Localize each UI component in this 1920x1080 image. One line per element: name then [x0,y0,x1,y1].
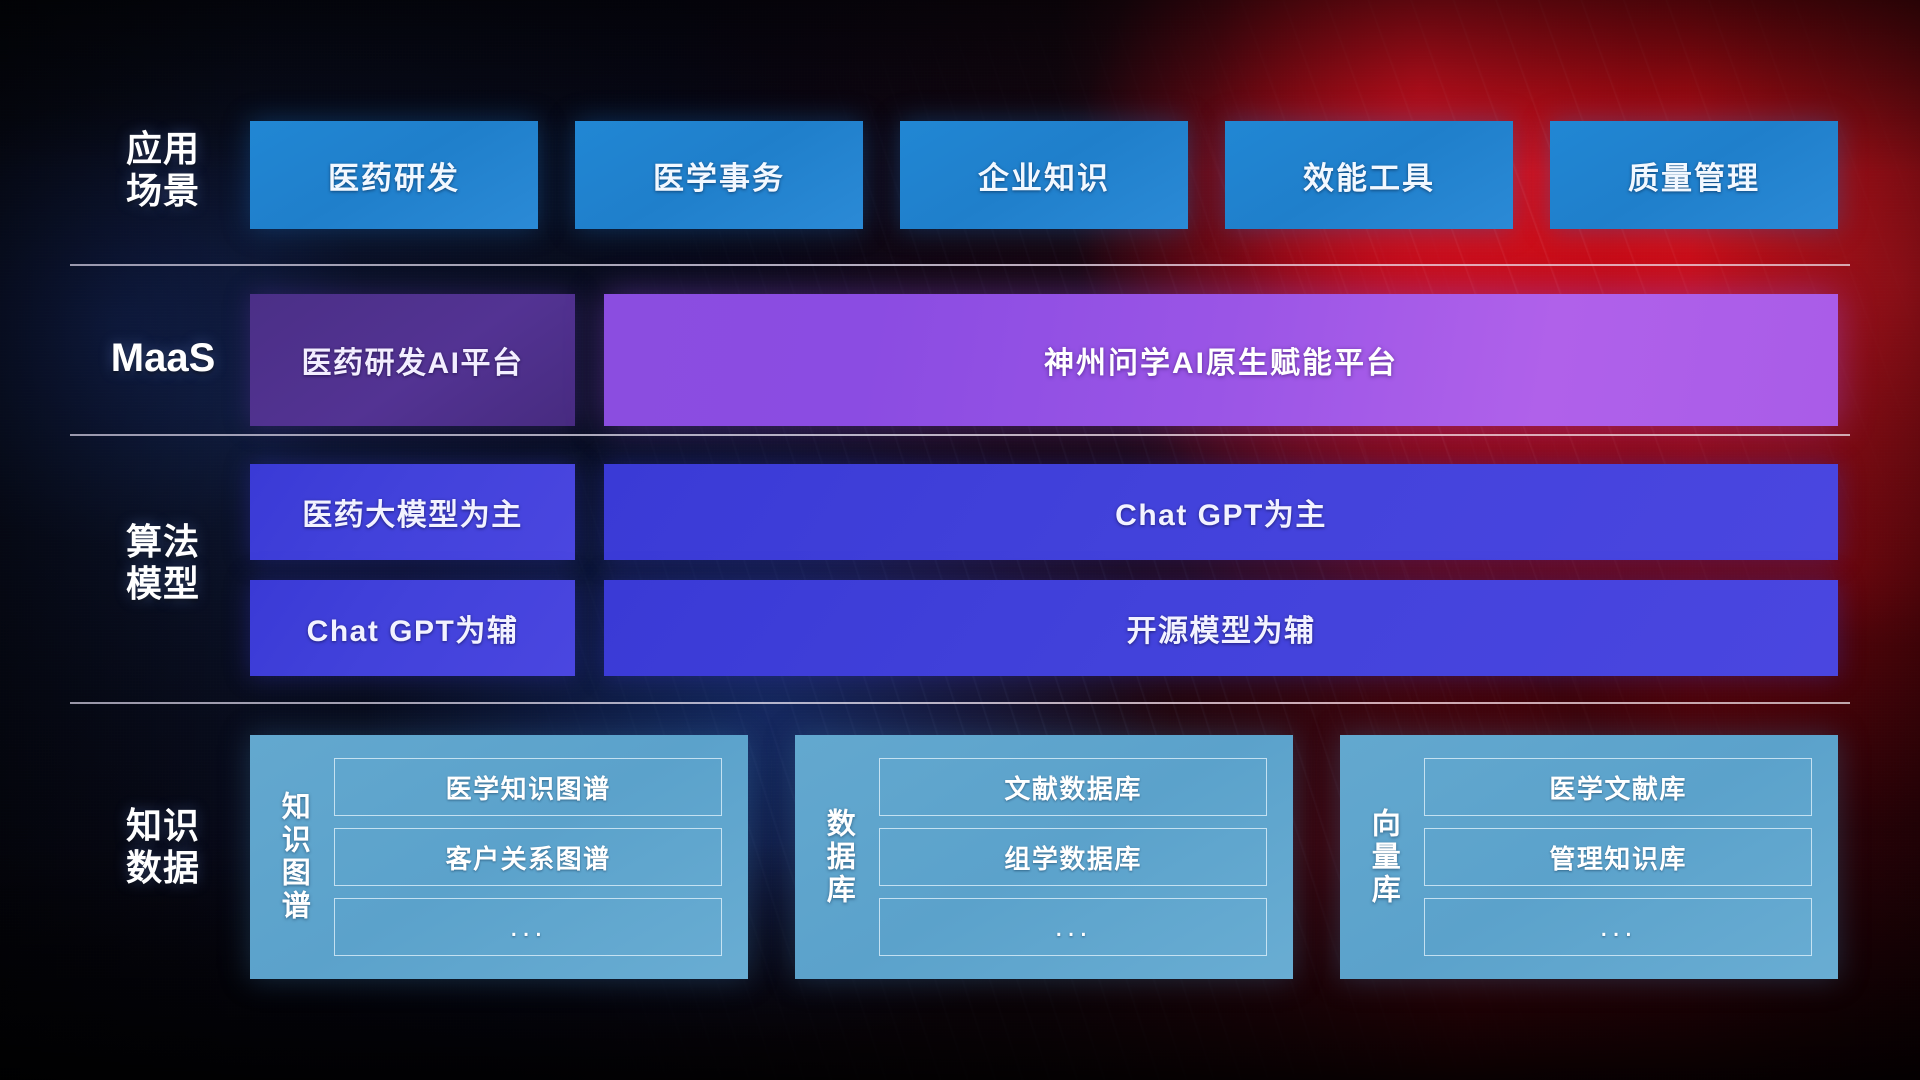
row-label-algorithm-model: 算法 模型 [88,521,238,606]
row-label-line-1: 算法 [88,521,238,563]
knowledge-group-vector-store[interactable]: 向量库 医学文献库 管理知识库 ... [1340,735,1838,979]
maas-box-shenzhou-wenxue-platform[interactable]: 神州问学AI原生赋能平台 [604,294,1838,426]
divider-2 [70,434,1850,436]
scene-box-label: 医学事务 [653,153,785,198]
knowledge-item-more[interactable]: ... [879,898,1267,956]
knowledge-item-customer-relation-graph[interactable]: 客户关系图谱 [334,828,722,886]
knowledge-item-more[interactable]: ... [334,898,722,956]
knowledge-item-omics-database[interactable]: 组学数据库 [879,828,1267,886]
row-label-knowledge-data: 知识 数据 [88,805,238,890]
knowledge-group-title: 向量库 [1340,735,1416,979]
maas-box-label: 医药研发AI平台 [302,338,524,382]
knowledge-item-medical-knowledge-graph[interactable]: 医学知识图谱 [334,758,722,816]
scene-box-label: 效能工具 [1303,153,1435,198]
knowledge-group-items: 医学知识图谱 客户关系图谱 ... [326,735,748,979]
knowledge-group-items: 文献数据库 组学数据库 ... [871,735,1293,979]
knowledge-item-medical-literature-store[interactable]: 医学文献库 [1424,758,1812,816]
row-label-line-1: 知识 [88,805,238,847]
knowledge-group-title: 数据库 [795,735,871,979]
slide-canvas: 应用 场景 医药研发 医学事务 企业知识 效能工具 质量管理 MaaS [0,0,1920,1080]
knowledge-item-management-knowledge-store[interactable]: 管理知识库 [1424,828,1812,886]
knowledge-group-items: 医学文献库 管理知识库 ... [1416,735,1838,979]
scene-box-enterprise-knowledge[interactable]: 企业知识 [900,121,1188,229]
knowledge-item-literature-database[interactable]: 文献数据库 [879,758,1267,816]
knowledge-group-knowledge-graph[interactable]: 知识图谱 医学知识图谱 客户关系图谱 ... [250,735,748,979]
row-label-line-2: 模型 [88,563,238,605]
row-label-line-1: 应用 [88,128,238,170]
algorithm-box-label: 医药大模型为主 [302,490,523,534]
row-label-line-2: 数据 [88,847,238,889]
maas-box-pharma-ai-platform[interactable]: 医药研发AI平台 [250,294,575,426]
knowledge-group-database[interactable]: 数据库 文献数据库 组学数据库 ... [795,735,1293,979]
scene-box-label: 质量管理 [1628,153,1760,198]
row-label-line-2: 场景 [88,170,238,212]
algorithm-box-chatgpt-primary[interactable]: Chat GPT为主 [604,464,1838,560]
divider-1 [70,264,1850,266]
algorithm-box-label: Chat GPT为辅 [307,606,519,650]
scene-box-efficiency-tools[interactable]: 效能工具 [1225,121,1513,229]
row-label-application-scenarios: 应用 场景 [88,128,238,213]
scene-box-label: 企业知识 [978,153,1110,198]
scene-box-label: 医药研发 [328,153,460,198]
divider-3 [70,702,1850,704]
knowledge-item-more[interactable]: ... [1424,898,1812,956]
row-label-line-1: MaaS [88,335,238,382]
algorithm-box-pharma-llm-primary[interactable]: 医药大模型为主 [250,464,575,560]
maas-box-label: 神州问学AI原生赋能平台 [1044,338,1398,382]
algorithm-box-label: Chat GPT为主 [1115,490,1327,534]
scene-box-medical-affairs[interactable]: 医学事务 [575,121,863,229]
algorithm-box-opensource-secondary[interactable]: 开源模型为辅 [604,580,1838,676]
knowledge-group-title: 知识图谱 [250,735,326,979]
scene-box-quality-management[interactable]: 质量管理 [1550,121,1838,229]
row-label-maas: MaaS [88,335,238,382]
scene-box-pharma-rd[interactable]: 医药研发 [250,121,538,229]
algorithm-box-label: 开源模型为辅 [1127,606,1316,650]
algorithm-box-chatgpt-secondary[interactable]: Chat GPT为辅 [250,580,575,676]
